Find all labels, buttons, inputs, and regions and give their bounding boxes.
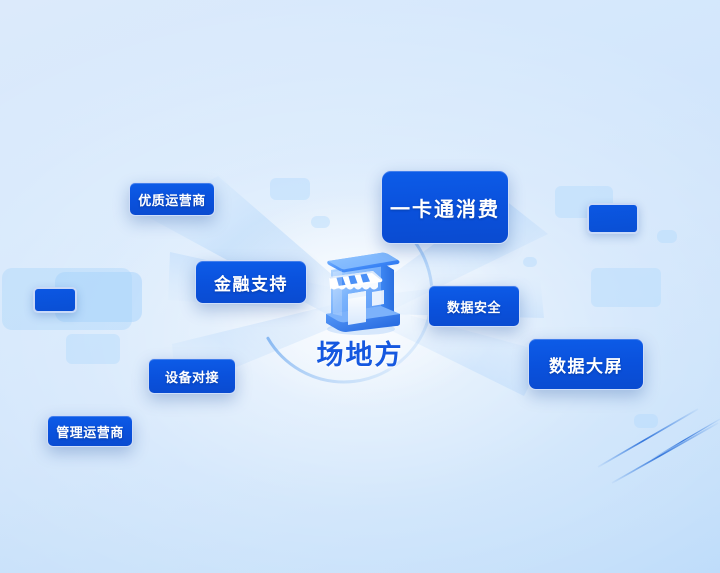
diagram-canvas: 场地方 优质运营商 金融支持 设备对接 管理运营商 一卡通消费 数据安全 数据大… [0,0,720,573]
label-chip-一卡通消费[interactable]: 一卡通消费 [381,170,509,244]
label-chip-数据大屏[interactable]: 数据大屏 [528,338,644,390]
shop-storefront-icon [312,244,410,336]
chip-text: 管理运营商 [56,422,124,441]
label-chip-管理运营商[interactable]: 管理运营商 [47,415,133,447]
deco-rect-right-d [523,257,537,267]
chip-text: 优质运营商 [138,190,206,209]
deco-rect-right-c [591,268,661,307]
label-chip-数据安全[interactable]: 数据安全 [428,285,520,327]
deco-rect-top-mid [270,178,310,200]
deco-rect-top-mid-2 [311,216,330,228]
label-chip-优质运营商[interactable]: 优质运营商 [129,182,215,216]
diagonal-streak-lines [590,395,720,490]
deco-rect-right-b [657,230,677,243]
deco-rect-right-accent [587,203,639,234]
chip-text: 一卡通消费 [390,193,500,222]
label-chip-金融支持[interactable]: 金融支持 [195,260,307,304]
deco-rect-left-accent [33,287,77,313]
label-chip-设备对接[interactable]: 设备对接 [148,358,236,394]
chip-text: 数据安全 [447,297,501,316]
chip-text: 设备对接 [165,367,219,386]
chip-text: 金融支持 [214,270,288,295]
chip-text: 数据大屏 [549,352,623,377]
